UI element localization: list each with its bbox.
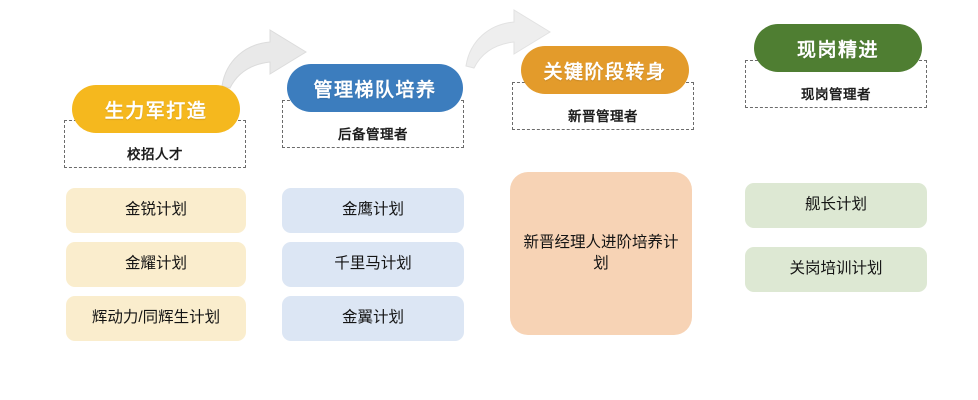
- diagram-canvas: 校招人才 生力军打造 金锐计划 金耀计划 辉动力/同辉生计划 后备管理者 管理梯…: [0, 0, 978, 400]
- stage-pill-1[interactable]: 生力军打造: [72, 85, 240, 133]
- plan-item-1-1[interactable]: 金锐计划: [66, 188, 246, 233]
- plan-item-4-2[interactable]: 关岗培训计划: [745, 247, 927, 292]
- plan-item-3-1[interactable]: 新晋经理人进阶培养计划: [510, 172, 692, 335]
- plan-item-2-3[interactable]: 金翼计划: [282, 296, 464, 341]
- role-label-1: 校招人才: [64, 143, 246, 163]
- plan-item-1-2[interactable]: 金耀计划: [66, 242, 246, 287]
- stage-pill-3[interactable]: 关键阶段转身: [521, 46, 689, 94]
- role-label-3: 新晋管理者: [512, 105, 694, 125]
- stage-pill-4[interactable]: 现岗精进: [754, 24, 922, 72]
- plan-item-2-1[interactable]: 金鹰计划: [282, 188, 464, 233]
- plan-item-1-3[interactable]: 辉动力/同辉生计划: [66, 296, 246, 341]
- role-label-2: 后备管理者: [282, 123, 464, 143]
- plan-item-2-2[interactable]: 千里马计划: [282, 242, 464, 287]
- stage-pill-2[interactable]: 管理梯队培养: [287, 64, 463, 112]
- plan-item-4-1[interactable]: 舰长计划: [745, 183, 927, 228]
- role-label-4: 现岗管理者: [745, 83, 927, 103]
